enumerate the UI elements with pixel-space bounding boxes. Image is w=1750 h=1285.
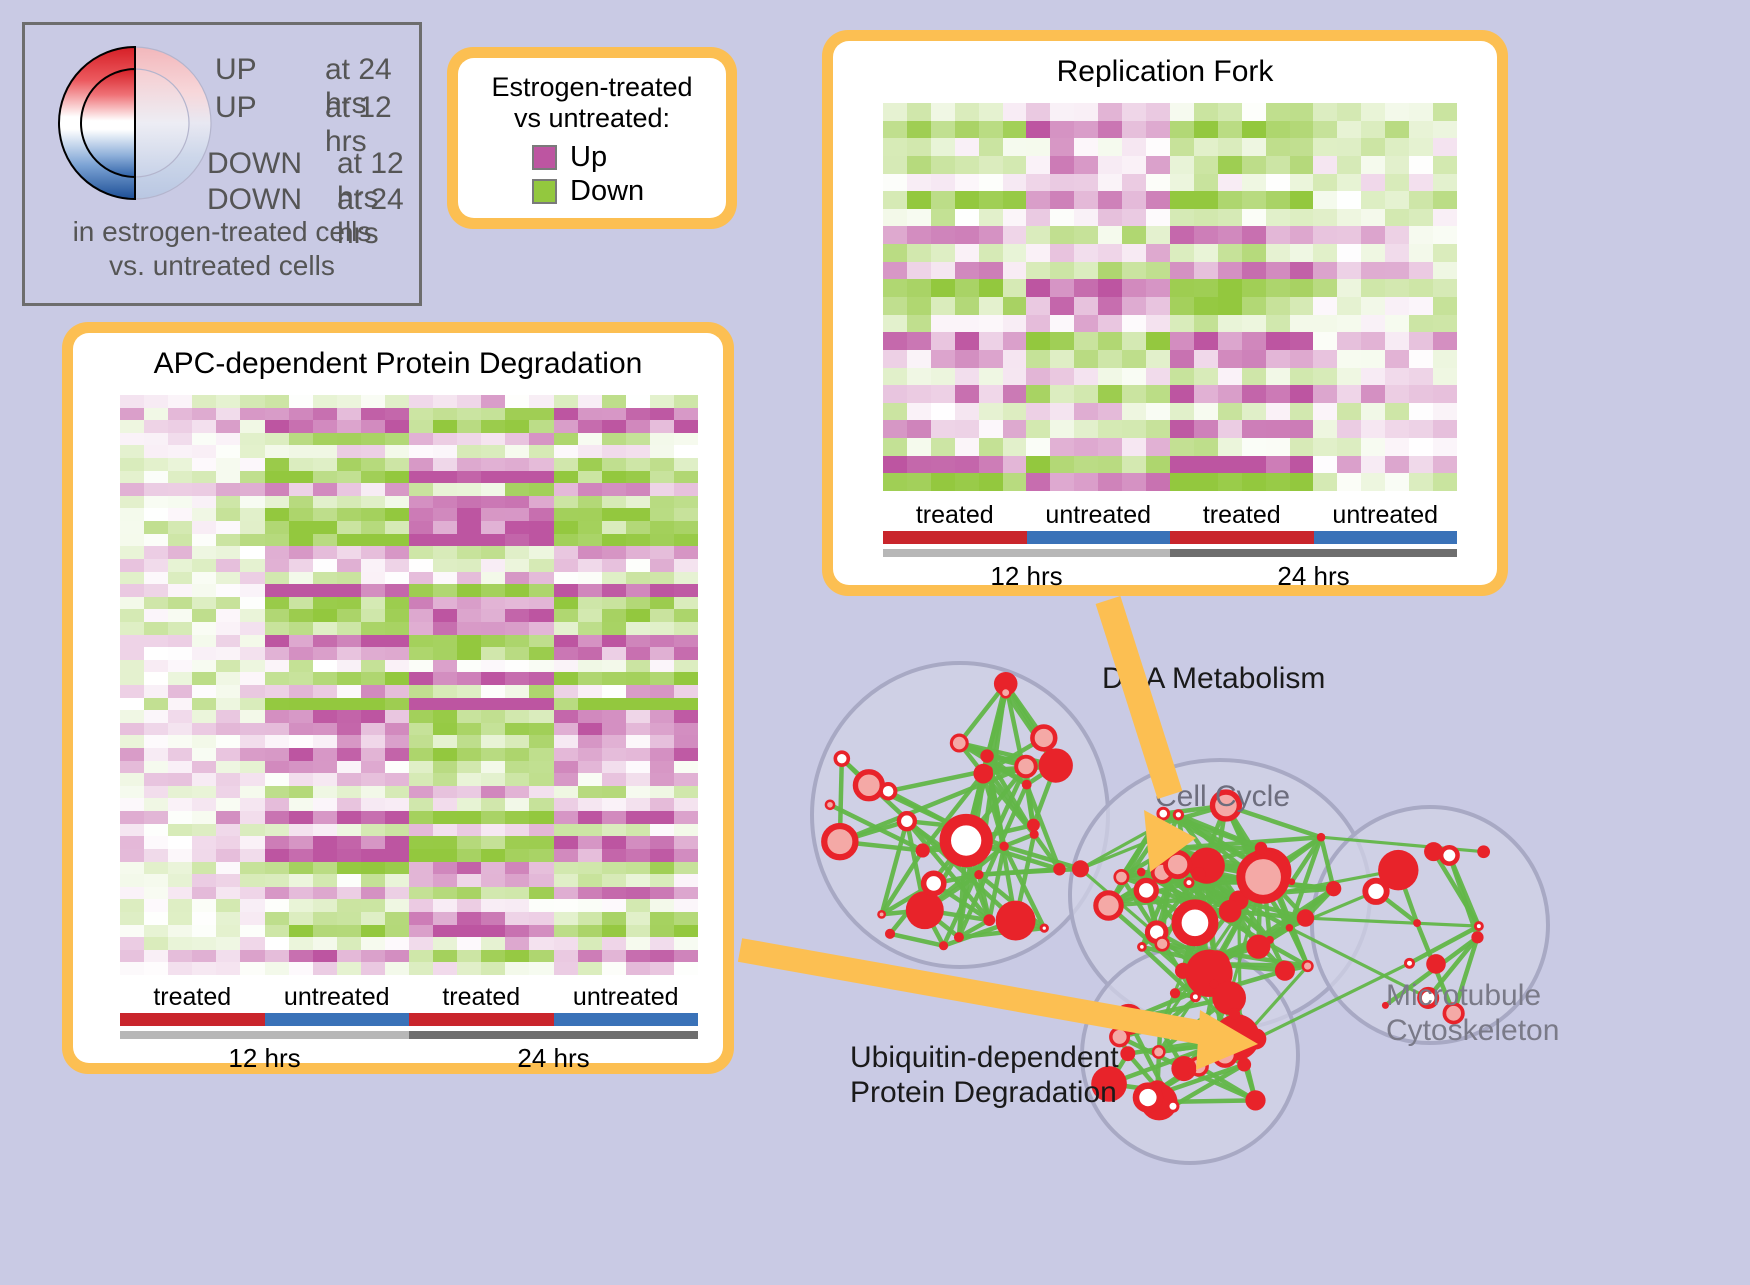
network-node[interactable] — [1426, 954, 1446, 974]
network-node[interactable] — [916, 843, 930, 857]
heatmap-cell — [907, 332, 931, 350]
network-node[interactable] — [973, 764, 993, 784]
heatmap-cell — [1146, 315, 1170, 333]
heatmap-cell — [626, 710, 650, 723]
heatmap-cell — [602, 597, 626, 610]
heatmap-cell — [192, 546, 216, 559]
heatmap-cell — [626, 723, 650, 736]
heatmap-cell — [554, 521, 578, 534]
heatmap-cell — [650, 546, 674, 559]
apc-inner: APC-dependent Protein Degradation treate… — [73, 333, 723, 1063]
heatmap-cell — [1026, 315, 1050, 333]
heatmap-cell — [1146, 262, 1170, 280]
heatmap-cell — [409, 723, 433, 736]
network-node[interactable] — [1297, 909, 1314, 926]
heatmap-cell — [168, 862, 192, 875]
network-node[interactable] — [1137, 868, 1146, 877]
heatmap-cell — [120, 798, 144, 811]
heatmap-cell — [529, 912, 553, 925]
heatmap-cell — [144, 950, 168, 963]
network-node[interactable] — [1167, 845, 1173, 851]
heatmap-cell — [883, 385, 907, 403]
heatmap-cell — [457, 660, 481, 673]
heatmap-cell — [481, 433, 505, 446]
heatmap-cell — [481, 534, 505, 547]
heatmap-cell — [433, 445, 457, 458]
heatmap-cell — [650, 836, 674, 849]
heatmap-cell — [433, 572, 457, 585]
network-node[interactable] — [1303, 961, 1313, 971]
heatmap-cell — [433, 546, 457, 559]
heatmap-cell — [240, 395, 264, 408]
network-node[interactable] — [1237, 1037, 1245, 1045]
heatmap-cell — [289, 937, 313, 950]
heatmap-cell — [168, 685, 192, 698]
heatmap-cell — [674, 660, 698, 673]
heatmap-cell — [168, 887, 192, 900]
network-node[interactable] — [951, 735, 967, 751]
heatmap-cell — [120, 912, 144, 925]
heatmap-cell — [361, 874, 385, 887]
network-node[interactable] — [1229, 1008, 1241, 1020]
heatmap-cell — [1146, 368, 1170, 386]
network-node[interactable] — [1246, 935, 1270, 959]
network-node[interactable] — [945, 820, 987, 862]
network-node[interactable] — [980, 749, 993, 762]
heatmap-cell — [1266, 332, 1290, 350]
heatmap-cell — [289, 862, 313, 875]
color-key-label-up-12: UP — [215, 91, 257, 125]
network-node[interactable] — [1150, 822, 1158, 830]
network-node[interactable] — [983, 914, 995, 926]
heatmap-cell — [457, 748, 481, 761]
heatmap-cell — [240, 622, 264, 635]
group-label: untreated — [554, 983, 699, 1012]
heatmap-cell — [144, 597, 168, 610]
network-node[interactable] — [855, 772, 882, 799]
heatmap-cell — [578, 811, 602, 824]
network-node[interactable] — [954, 932, 964, 942]
heatmap-cell — [385, 483, 409, 496]
heatmap-cell — [240, 912, 264, 925]
heatmap-cell — [931, 279, 955, 297]
heatmap-cell — [1050, 438, 1074, 456]
heatmap-cell — [168, 445, 192, 458]
heatmap-cell — [240, 925, 264, 938]
heatmap-cell — [1409, 262, 1433, 280]
network-node[interactable] — [1139, 944, 1146, 951]
heatmap-cell — [313, 874, 337, 887]
heatmap-cell — [457, 458, 481, 471]
heatmap-cell — [1290, 279, 1314, 297]
heatmap-cell — [120, 836, 144, 849]
network-node[interactable] — [1072, 860, 1089, 877]
heatmap-cell — [1337, 191, 1361, 209]
network-node[interactable] — [1151, 836, 1158, 843]
network-node[interactable] — [1171, 1056, 1196, 1081]
heatmap-cell — [1170, 350, 1194, 368]
heatmap-cell — [1337, 350, 1361, 368]
heatmap-cell — [433, 962, 457, 975]
network-node[interactable] — [1001, 688, 1010, 697]
heatmap-cell — [529, 786, 553, 799]
time-label: 24 hrs — [409, 1043, 698, 1074]
heatmap-cell — [1361, 350, 1385, 368]
network-node[interactable] — [1245, 1090, 1265, 1110]
network-node[interactable] — [1022, 780, 1032, 790]
network-node[interactable] — [1378, 850, 1418, 890]
network-node[interactable] — [1237, 1058, 1251, 1072]
heatmap-cell — [240, 572, 264, 585]
heatmap-cell — [168, 925, 192, 938]
heatmap-cell — [674, 836, 698, 849]
network-node[interactable] — [996, 901, 1036, 941]
network-node[interactable] — [1136, 1086, 1160, 1110]
heatmap-cell — [554, 471, 578, 484]
heatmap-cell — [409, 458, 433, 471]
network-node[interactable] — [1406, 959, 1414, 967]
heatmap-cell — [385, 786, 409, 799]
heatmap-cell — [602, 862, 626, 875]
heatmap-cell — [144, 445, 168, 458]
heatmap-cell — [1266, 262, 1290, 280]
heatmap-cell — [337, 647, 361, 660]
network-node[interactable] — [999, 842, 1008, 851]
heatmap-cell — [578, 937, 602, 950]
heatmap-cell — [1170, 420, 1194, 438]
heatmap-cell — [1361, 315, 1385, 333]
network-node[interactable] — [1255, 842, 1268, 855]
network-node[interactable] — [1424, 842, 1443, 861]
heatmap-cell — [883, 315, 907, 333]
heatmap-cell — [883, 403, 907, 421]
heatmap-cell — [1026, 138, 1050, 156]
heatmap-cell — [240, 899, 264, 912]
network-node[interactable] — [1475, 923, 1482, 930]
heatmap-cell — [385, 597, 409, 610]
heatmap-cell — [554, 609, 578, 622]
network-node[interactable] — [1032, 727, 1055, 750]
heatmap-cell — [192, 408, 216, 421]
heatmap-cell — [554, 735, 578, 748]
network-node[interactable] — [835, 752, 848, 765]
heatmap-cell — [674, 723, 698, 736]
heatmap-cell — [602, 584, 626, 597]
network-node[interactable] — [1413, 919, 1421, 927]
network-node[interactable] — [1245, 1028, 1266, 1049]
heatmap-cell — [1026, 279, 1050, 297]
heatmap-cell — [1050, 156, 1074, 174]
heatmap-cell — [1122, 385, 1146, 403]
network-node[interactable] — [885, 929, 895, 939]
heatmap-cell — [168, 824, 192, 837]
heatmap-cell — [578, 647, 602, 660]
heatmap-cell — [1266, 403, 1290, 421]
heatmap-cell — [168, 912, 192, 925]
heatmap-cell — [313, 836, 337, 849]
heatmap-cell — [433, 534, 457, 547]
heatmap-cell — [144, 849, 168, 862]
heatmap-cell — [313, 622, 337, 635]
heatmap-cell — [313, 811, 337, 824]
heatmap-cell — [650, 710, 674, 723]
heatmap-cell — [385, 962, 409, 975]
heatmap-cell — [1433, 385, 1457, 403]
heatmap-cell — [529, 874, 553, 887]
heatmap-cell — [313, 761, 337, 774]
network-node[interactable] — [974, 870, 983, 879]
network-node[interactable] — [1185, 879, 1193, 887]
network-node[interactable] — [1153, 1046, 1164, 1057]
heatmap-cell — [1218, 138, 1242, 156]
heatmap-cell — [385, 723, 409, 736]
heatmap-cell — [1313, 174, 1337, 192]
network-node[interactable] — [1120, 1046, 1135, 1061]
heatmap-cell — [385, 546, 409, 559]
heatmap-cell — [192, 685, 216, 698]
network-node[interactable] — [1153, 1020, 1168, 1035]
heatmap-cell — [883, 368, 907, 386]
heatmap-cell — [409, 962, 433, 975]
heatmap-cell — [289, 433, 313, 446]
heatmap-cell — [1361, 191, 1385, 209]
heatmap-cell — [907, 315, 931, 333]
heatmap-cell — [931, 368, 955, 386]
heatmap-cell — [578, 685, 602, 698]
heatmap-cell — [931, 121, 955, 139]
heatmap-cell — [1266, 456, 1290, 474]
heatmap-cell — [1337, 209, 1361, 227]
heatmap-cell — [1098, 156, 1122, 174]
network-node[interactable] — [1219, 900, 1242, 923]
heatmap-cell — [907, 226, 931, 244]
heatmap-cell — [578, 761, 602, 774]
heatmap-cell — [168, 773, 192, 786]
heatmap-cell — [457, 811, 481, 824]
heatmap-cell — [216, 786, 240, 799]
heatmap-cell — [337, 672, 361, 685]
heatmap-cell — [120, 445, 144, 458]
heatmap-cell — [1026, 420, 1050, 438]
network-node[interactable] — [826, 801, 834, 809]
heatmap-cell — [650, 811, 674, 824]
heatmap-cell — [955, 103, 979, 121]
network-node[interactable] — [1165, 852, 1189, 876]
heatmap-cell — [337, 735, 361, 748]
heatmap-cell — [505, 735, 529, 748]
heatmap-cell — [265, 496, 289, 509]
network-node[interactable] — [1096, 893, 1121, 918]
network-node[interactable] — [1317, 833, 1326, 842]
network-node[interactable] — [1275, 961, 1295, 981]
heatmap-cell — [529, 685, 553, 698]
heatmap-cell — [337, 836, 361, 849]
heatmap-cell — [192, 899, 216, 912]
network-node[interactable] — [1039, 748, 1073, 782]
network-node[interactable] — [899, 813, 915, 829]
network-node[interactable] — [1168, 1101, 1178, 1111]
heatmap-cell — [481, 811, 505, 824]
heatmap-cell — [578, 508, 602, 521]
heatmap-cell — [216, 761, 240, 774]
heatmap-cell — [1337, 438, 1361, 456]
network-node[interactable] — [924, 873, 944, 893]
heatmap-cell — [313, 546, 337, 559]
replication-fork-group-bars — [883, 531, 1457, 544]
heatmap-cell — [385, 395, 409, 408]
heatmap-cell — [883, 332, 907, 350]
heatmap-cell — [554, 761, 578, 774]
network-node[interactable] — [1286, 924, 1294, 932]
heatmap-cell — [1122, 121, 1146, 139]
heatmap-cell — [168, 433, 192, 446]
network-node[interactable] — [1212, 981, 1246, 1015]
heatmap-cell — [313, 899, 337, 912]
heatmap-cell — [192, 761, 216, 774]
apc-group-bars — [120, 1013, 698, 1026]
heatmap-cell — [602, 609, 626, 622]
heatmap-cell — [1074, 138, 1098, 156]
heatmap-cell — [313, 925, 337, 938]
network-node[interactable] — [939, 941, 948, 950]
heatmap-cell — [554, 811, 578, 824]
heatmap-cell — [1218, 315, 1242, 333]
heatmap-cell — [1290, 438, 1314, 456]
heatmap-cell — [265, 622, 289, 635]
heatmap-cell — [265, 710, 289, 723]
heatmap-cell — [1146, 209, 1170, 227]
network-node[interactable] — [1241, 855, 1286, 900]
network-node[interactable] — [1326, 881, 1341, 896]
group-color-bar — [554, 1013, 699, 1026]
heatmap-cell — [144, 912, 168, 925]
heatmap-cell — [144, 647, 168, 660]
network-node[interactable] — [824, 826, 855, 857]
network-node[interactable] — [1156, 937, 1169, 950]
heatmap-cell — [409, 534, 433, 547]
heatmap-cell — [144, 824, 168, 837]
heatmap-cell — [979, 403, 1003, 421]
heatmap-cell — [674, 458, 698, 471]
heatmap-cell — [216, 710, 240, 723]
legend-swatch-up-icon — [532, 145, 557, 170]
heatmap-cell — [1266, 385, 1290, 403]
heatmap-cell — [433, 483, 457, 496]
heatmap-cell — [505, 887, 529, 900]
heatmap-cell — [554, 483, 578, 496]
heatmap-cell — [578, 445, 602, 458]
heatmap-cell — [409, 395, 433, 408]
heatmap-cell — [385, 912, 409, 925]
heatmap-cell — [457, 420, 481, 433]
heatmap-cell — [1122, 456, 1146, 474]
heatmap-cell — [1170, 209, 1194, 227]
heatmap-cell — [602, 395, 626, 408]
heatmap-cell — [192, 559, 216, 572]
heatmap-cell — [1074, 332, 1098, 350]
network-node[interactable] — [906, 891, 944, 929]
heatmap-cell — [265, 887, 289, 900]
heatmap-cell — [1194, 244, 1218, 262]
heatmap-cell — [979, 244, 1003, 262]
heatmap-cell — [361, 572, 385, 585]
heatmap-cell — [650, 735, 674, 748]
heatmap-cell — [337, 445, 361, 458]
network-node[interactable] — [1041, 925, 1047, 931]
network-node[interactable] — [1136, 880, 1156, 900]
heatmap-cell — [216, 874, 240, 887]
heatmap-cell — [505, 761, 529, 774]
heatmap-cell — [505, 647, 529, 660]
network-node[interactable] — [1477, 845, 1490, 858]
heatmap-cell — [481, 546, 505, 559]
heatmap-cell — [650, 773, 674, 786]
heatmap-cell — [955, 456, 979, 474]
heatmap-cell — [1242, 226, 1266, 244]
heatmap-cell — [1218, 297, 1242, 315]
heatmap-cell — [650, 698, 674, 711]
heatmap-cell — [1146, 103, 1170, 121]
apc-title: APC-dependent Protein Degradation — [73, 333, 723, 381]
heatmap-cell — [505, 622, 529, 635]
heatmap-cell — [192, 748, 216, 761]
heatmap-cell — [1313, 121, 1337, 139]
heatmap-cell — [192, 597, 216, 610]
heatmap-cell — [931, 262, 955, 280]
network-node[interactable] — [881, 784, 896, 799]
network-node[interactable] — [1205, 906, 1212, 913]
heatmap-cell — [1218, 385, 1242, 403]
network-node[interactable] — [1441, 847, 1457, 863]
heatmap-cell — [240, 483, 264, 496]
heatmap-cell — [409, 433, 433, 446]
heatmap-cell — [120, 572, 144, 585]
heatmap-cell — [289, 950, 313, 963]
heatmap-cell — [554, 786, 578, 799]
heatmap-cell — [529, 445, 553, 458]
heatmap-cell — [313, 798, 337, 811]
heatmap-cell — [1337, 138, 1361, 156]
heatmap-cell — [1074, 156, 1098, 174]
network-node[interactable] — [1115, 870, 1128, 883]
heatmap-cell — [931, 297, 955, 315]
heatmap-cell — [240, 609, 264, 622]
legend-swatch-down-icon — [532, 179, 557, 204]
heatmap-cell — [650, 786, 674, 799]
heatmap-cell — [529, 824, 553, 837]
heatmap-cell — [409, 773, 433, 786]
network-node[interactable] — [1192, 867, 1206, 881]
heatmap-cell — [955, 315, 979, 333]
heatmap-cell — [1146, 279, 1170, 297]
heatmap-cell — [1218, 350, 1242, 368]
network-node[interactable] — [1053, 863, 1066, 876]
heatmap-cell — [1098, 121, 1122, 139]
heatmap-cell — [361, 458, 385, 471]
heatmap-cell — [361, 912, 385, 925]
network-node[interactable] — [1471, 931, 1483, 943]
network-node[interactable] — [1016, 757, 1036, 777]
heatmap-cell — [907, 262, 931, 280]
heatmap-cell — [650, 559, 674, 572]
heatmap-cell — [1290, 315, 1314, 333]
network-node[interactable] — [878, 911, 884, 917]
network-node[interactable] — [1027, 819, 1040, 832]
network-node[interactable] — [1214, 1044, 1236, 1066]
heatmap-cell — [144, 874, 168, 887]
network-node[interactable] — [1170, 988, 1180, 998]
heatmap-cell — [265, 534, 289, 547]
